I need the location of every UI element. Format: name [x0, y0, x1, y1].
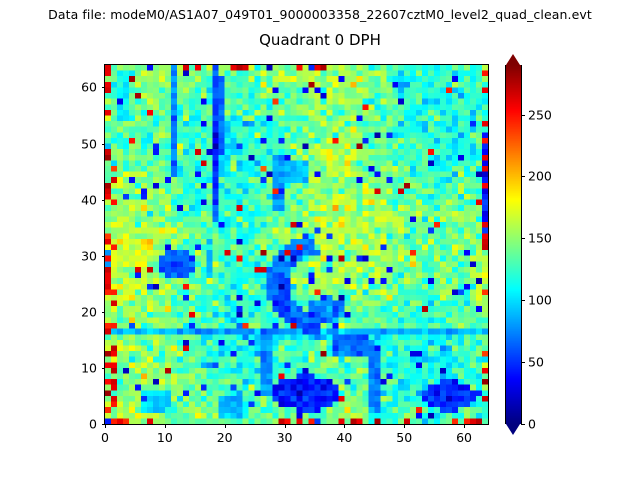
- colorbar-spine-left: [505, 65, 506, 424]
- colorbar: 050100150200250: [506, 65, 521, 424]
- data-file-label: Data file: modeM0/AS1A07_049T01_90000033…: [0, 7, 640, 22]
- axis-spine-top: [104, 64, 489, 65]
- colorbar-tick-mark: [521, 362, 525, 363]
- x-tick-label: 40: [336, 430, 352, 445]
- page-title: Quadrant 0 DPH: [0, 31, 640, 49]
- detector-heatmap-image: [105, 65, 488, 424]
- x-tick-label: 10: [157, 430, 173, 445]
- y-tick-label: 60: [63, 80, 97, 95]
- colorbar-tick-mark: [521, 300, 525, 301]
- colorbar-tick-mark: [521, 238, 525, 239]
- y-tick-mark: [102, 312, 106, 313]
- y-tick-label: 0: [63, 417, 97, 432]
- colorbar-tick-label: 0: [528, 417, 536, 432]
- y-tick-label: 20: [63, 304, 97, 319]
- colorbar-gradient: [506, 65, 521, 424]
- colorbar-tick-label: 50: [528, 355, 544, 370]
- y-tick-label: 50: [63, 136, 97, 151]
- axis-spine-bottom: [104, 424, 489, 425]
- y-tick-mark: [102, 368, 106, 369]
- x-tick-mark: [225, 424, 226, 428]
- axis-spine-right: [488, 64, 489, 425]
- colorbar-tick-label: 250: [528, 107, 552, 122]
- y-tick-mark: [102, 256, 106, 257]
- x-tick-label: 50: [396, 430, 412, 445]
- colorbar-spine-right: [521, 65, 522, 424]
- x-tick-label: 20: [217, 430, 233, 445]
- colorbar-tick-mark: [521, 176, 525, 177]
- x-tick-mark: [464, 424, 465, 428]
- x-tick-mark: [105, 424, 106, 428]
- y-tick-mark: [102, 87, 106, 88]
- x-tick-label: 0: [101, 430, 109, 445]
- y-tick-label: 40: [63, 192, 97, 207]
- colorbar-tick-label: 100: [528, 293, 552, 308]
- axis-spine-left: [104, 64, 105, 425]
- colorbar-tick-mark: [521, 115, 525, 116]
- y-tick-label: 30: [63, 248, 97, 263]
- y-tick-mark: [102, 200, 106, 201]
- x-tick-mark: [344, 424, 345, 428]
- y-tick-label: 10: [63, 360, 97, 375]
- heatmap-axes: 0102030405060 0102030405060: [105, 65, 488, 424]
- figure-canvas: Data file: modeM0/AS1A07_049T01_90000033…: [0, 0, 640, 480]
- colorbar-tick-label: 150: [528, 231, 552, 246]
- x-tick-mark: [285, 424, 286, 428]
- colorbar-extend-high-arrow: [506, 54, 520, 65]
- y-tick-mark: [102, 144, 106, 145]
- y-tick-mark: [102, 424, 106, 425]
- x-tick-mark: [404, 424, 405, 428]
- x-tick-label: 60: [456, 430, 472, 445]
- colorbar-extend-low-arrow: [506, 424, 520, 435]
- colorbar-tick-label: 200: [528, 169, 552, 184]
- colorbar-tick-mark: [521, 424, 525, 425]
- x-tick-label: 30: [277, 430, 293, 445]
- x-tick-mark: [165, 424, 166, 428]
